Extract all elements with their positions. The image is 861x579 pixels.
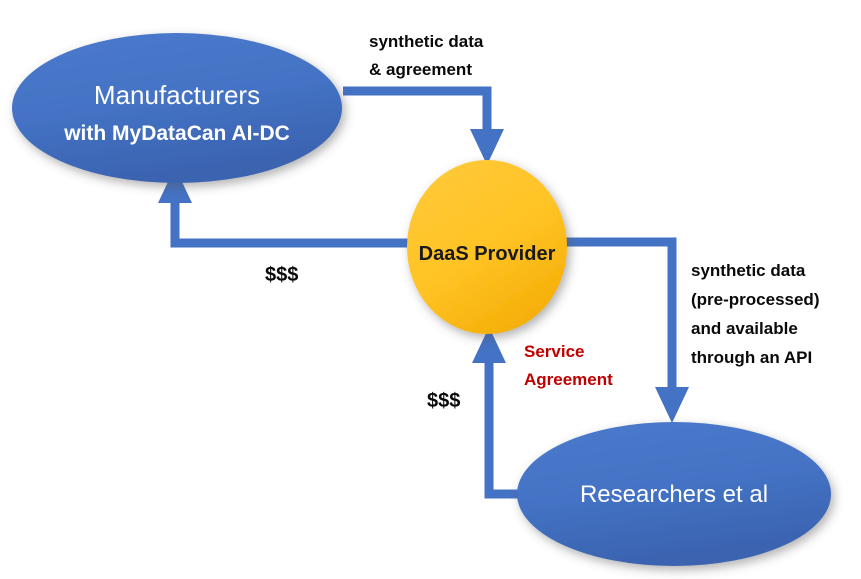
edge-label-right-line1: synthetic data — [691, 261, 806, 280]
node-daas-provider[interactable]: DaaS Provider — [407, 160, 567, 334]
edge-daas-to-researchers — [565, 242, 689, 423]
researchers-label: Researchers et al — [580, 481, 768, 508]
diagram-root: Manufacturers with MyDataCan AI-DC DaaS … — [0, 0, 861, 579]
edge-manufacturers-to-daas — [343, 91, 504, 165]
manufacturers-label-line2: with MyDataCan AI-DC — [63, 122, 290, 145]
edge-label-manufacturers-to-daas: synthetic data & agreement — [369, 32, 484, 79]
service-agreement-line1: Service — [524, 342, 585, 361]
arrowhead-down-to-researchers — [655, 387, 689, 423]
manufacturers-label-line1: Manufacturers — [94, 80, 260, 110]
node-researchers[interactable]: Researchers et al — [517, 422, 831, 566]
edge-label-top-line1: synthetic data — [369, 32, 484, 51]
node-manufacturers[interactable]: Manufacturers with MyDataCan AI-DC — [12, 33, 342, 183]
arrowhead-down-to-daas — [470, 129, 504, 165]
edge-label-right-line2: (pre-processed) — [691, 290, 819, 309]
daas-provider-label: DaaS Provider — [419, 243, 556, 265]
service-agreement-line2: Agreement — [524, 370, 613, 389]
edge-label-right-line3: and available — [691, 319, 798, 338]
flow-diagram-canvas: Manufacturers with MyDataCan AI-DC DaaS … — [0, 0, 861, 579]
edge-label-daas-to-researchers: synthetic data (pre-processed) and avail… — [691, 261, 819, 367]
edge-label-money-daas: $$$ — [427, 390, 460, 412]
edge-label-money-manufacturers: $$$ — [265, 264, 298, 286]
edge-label-right-line4: through an API — [691, 348, 812, 367]
edge-label-top-line2: & agreement — [369, 60, 472, 79]
edge-label-service-agreement: Service Agreement — [524, 342, 613, 389]
